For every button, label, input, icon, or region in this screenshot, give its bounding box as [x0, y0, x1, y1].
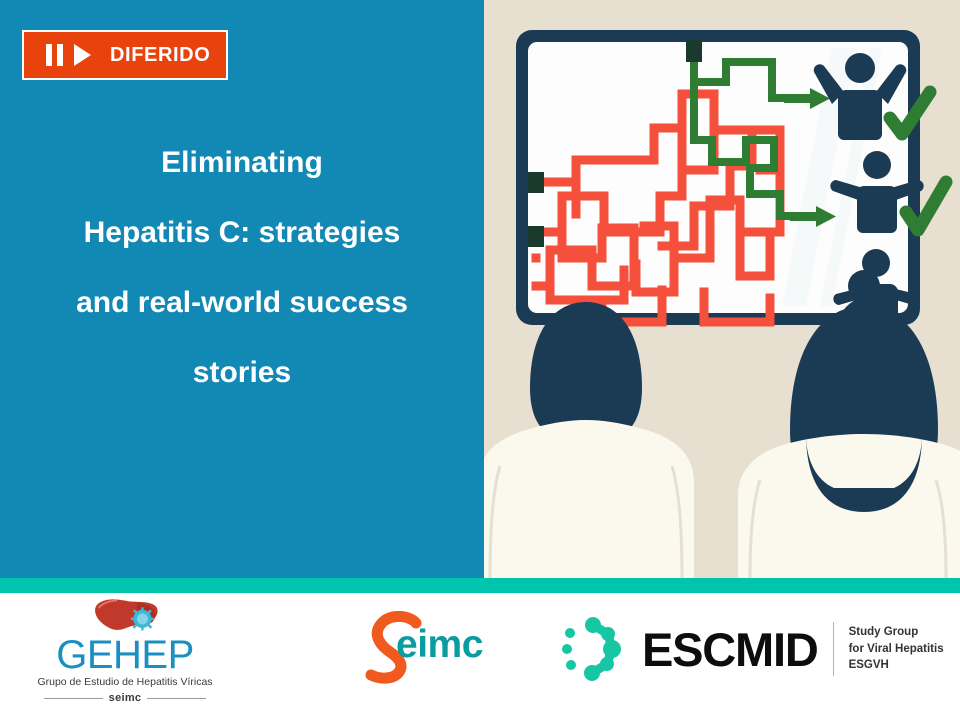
play-icon [74, 44, 91, 66]
liver-virus-icon [89, 597, 162, 631]
maze-whiteboard-illustration [484, 0, 960, 578]
escmid-logo[interactable]: ESCMID Study Group for Viral Hepatitis E… [562, 613, 944, 685]
diferido-badge-label: DIFERIDO [110, 44, 210, 67]
rule-right [147, 698, 206, 699]
diferido-badge[interactable]: DIFERIDO [22, 30, 228, 80]
page-title: Eliminating Hepatitis C: strategies and … [0, 148, 484, 388]
seimc-logo[interactable]: eimc [362, 611, 492, 687]
molecule-dots-icon [562, 617, 630, 681]
escmid-wordmark: ESCMID [642, 626, 818, 673]
gehep-affiliation-row: seimc [30, 692, 220, 704]
pause-icon [46, 44, 63, 66]
escmid-tagline-line-3: ESGVH [849, 657, 944, 674]
title-line-3: and real-world success [0, 288, 484, 318]
gehep-wordmark: GEHEP [30, 636, 220, 674]
footer-logos: GEHEP Grupo de Estudio de Hepatitis Víri… [0, 593, 960, 720]
title-line-1: Eliminating [0, 148, 484, 178]
slide-root: DIFERIDO Eliminating Hepatitis C: strate… [0, 0, 960, 720]
title-line-4: stories [0, 358, 484, 388]
escmid-tagline: Study Group for Viral Hepatitis ESGVH [849, 624, 944, 674]
escmid-tagline-line-2: for Viral Hepatitis [849, 641, 944, 658]
title-line-2: Hepatitis C: strategies [0, 218, 484, 248]
hero-section: DIFERIDO Eliminating Hepatitis C: strate… [0, 0, 960, 578]
gehep-affiliation-label: seimc [109, 692, 142, 704]
rule-left [44, 698, 103, 699]
gehep-subtitle: Grupo de Estudio de Hepatitis Víricas [30, 676, 220, 688]
teal-separator-band [0, 578, 960, 593]
gehep-logo[interactable]: GEHEP Grupo de Estudio de Hepatitis Víri… [30, 597, 220, 709]
escmid-tagline-line-1: Study Group [849, 624, 944, 641]
escmid-divider [833, 622, 834, 676]
seimc-wordmark: eimc [396, 625, 483, 664]
